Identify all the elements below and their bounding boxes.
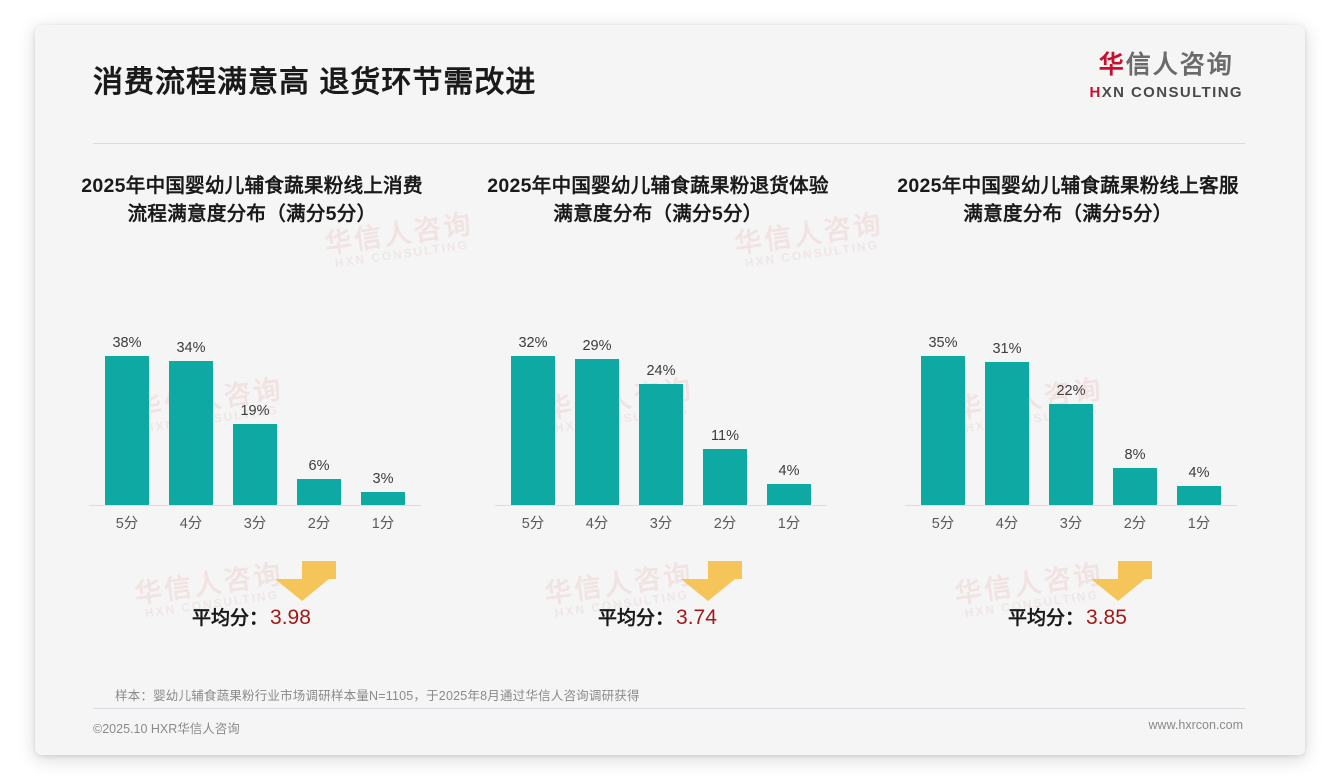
bar-value-label: 32%	[518, 335, 547, 351]
copyright-text: ©2025.10 HXR华信人咨询	[93, 718, 240, 737]
chart-plot-area: 38% 34% 19% 6%	[95, 307, 415, 535]
brand-logo-en: HXN CONSULTING	[1090, 85, 1244, 100]
bar-value-label: 11%	[711, 428, 739, 444]
bar-value-label: 3%	[373, 471, 394, 487]
chart-panel-consumption-flow: 2025年中国婴幼儿辅食蔬果粉线上消费流程满意度分布（满分5分） 38% 34%…	[57, 155, 447, 655]
bar-rect[interactable]	[361, 492, 405, 505]
average-score-value: 3.98	[270, 606, 311, 629]
average-score-value: 3.74	[676, 606, 717, 629]
chart-axis-line	[905, 505, 1237, 506]
x-tick-label: 3分	[1039, 512, 1103, 533]
chart-panel-customer-service: 2025年中国婴幼儿辅食蔬果粉线上客服满意度分布（满分5分） 35% 31% 2…	[873, 155, 1263, 655]
brand-logo: 华信人咨询 HXN CONSULTING	[1090, 53, 1244, 100]
header-divider	[93, 143, 1245, 144]
chart-panel-return-experience: 2025年中国婴幼儿辅食蔬果粉退货体验满意度分布（满分5分） 32% 29% 2…	[463, 155, 853, 655]
bar-value-label: 6%	[309, 458, 330, 474]
chart-title: 2025年中国婴幼儿辅食蔬果粉线上消费流程满意度分布（满分5分）	[80, 155, 425, 228]
bar-group: 32% 29% 24% 11%	[501, 335, 821, 505]
x-axis-tick-labels: 5分 4分 3分 2分 1分	[911, 509, 1231, 535]
bar-rect[interactable]	[703, 449, 747, 505]
bar-rect[interactable]	[1113, 468, 1157, 505]
bar-item[interactable]: 34%	[159, 335, 223, 505]
average-annotation: 平均分：3.74	[463, 555, 853, 650]
x-tick-label: 4分	[975, 512, 1039, 533]
chart-plot-area: 32% 29% 24% 11%	[501, 307, 821, 535]
average-score-label: 平均分：	[598, 608, 674, 629]
bar-rect[interactable]	[921, 356, 965, 505]
bar-item[interactable]: 4%	[1167, 335, 1231, 505]
slide-card: 消费流程满意高 退货环节需改进 华信人咨询 HXN CONSULTING 华信人…	[35, 25, 1305, 755]
x-axis-tick-labels: 5分 4分 3分 2分 1分	[95, 509, 415, 535]
bar-value-label: 35%	[928, 335, 957, 351]
bar-value-label: 22%	[1056, 383, 1085, 399]
average-score-label: 平均分：	[1008, 608, 1084, 629]
bar-value-label: 4%	[1189, 465, 1210, 481]
bar-item[interactable]: 35%	[911, 335, 975, 505]
x-tick-label: 3分	[629, 512, 693, 533]
x-tick-label: 4分	[565, 512, 629, 533]
x-tick-label: 2分	[1103, 512, 1167, 533]
footer-divider	[93, 708, 1245, 709]
x-axis-tick-labels: 5分 4分 3分 2分 1分	[501, 509, 821, 535]
bar-item[interactable]: 6%	[287, 335, 351, 505]
x-tick-label: 4分	[159, 512, 223, 533]
average-annotation: 平均分：3.85	[873, 555, 1263, 650]
chart-title: 2025年中国婴幼儿辅食蔬果粉线上客服满意度分布（满分5分）	[896, 155, 1241, 228]
slide-header: 消费流程满意高 退货环节需改进 华信人咨询 HXN CONSULTING	[35, 25, 1305, 117]
average-score-value: 3.85	[1086, 606, 1127, 629]
bar-value-label: 34%	[176, 340, 205, 356]
average-score-text: 平均分：3.85	[1008, 603, 1127, 630]
bar-rect[interactable]	[985, 362, 1029, 505]
brand-logo-en-rest: XN CONSULTING	[1102, 84, 1243, 101]
brand-logo-en-highlight: H	[1090, 84, 1102, 101]
average-score-text: 平均分：3.98	[192, 603, 311, 630]
brand-logo-cn-rest: 信人咨询	[1126, 51, 1234, 79]
bar-item[interactable]: 31%	[975, 335, 1039, 505]
bar-item[interactable]: 8%	[1103, 335, 1167, 505]
bar-item[interactable]: 4%	[757, 335, 821, 505]
bar-item[interactable]: 3%	[351, 335, 415, 505]
sample-footnote: 样本：婴幼儿辅食蔬果粉行业市场调研样本量N=1105，于2025年8月通过华信人…	[115, 685, 640, 704]
page-title: 消费流程满意高 退货环节需改进	[93, 57, 536, 101]
bar-rect[interactable]	[233, 424, 277, 505]
bar-item[interactable]: 29%	[565, 335, 629, 505]
bar-item[interactable]: 24%	[629, 335, 693, 505]
bar-rect[interactable]	[767, 484, 811, 505]
bar-item[interactable]: 19%	[223, 335, 287, 505]
bar-item[interactable]: 32%	[501, 335, 565, 505]
bar-value-label: 29%	[582, 338, 611, 354]
average-annotation: 平均分：3.98	[57, 555, 447, 650]
charts-container: 2025年中国婴幼儿辅食蔬果粉线上消费流程满意度分布（满分5分） 38% 34%…	[35, 155, 1305, 655]
bar-item[interactable]: 22%	[1039, 335, 1103, 505]
bar-value-label: 31%	[992, 341, 1021, 357]
bar-value-label: 24%	[646, 363, 675, 379]
website-url[interactable]: www.hxrcon.com	[1149, 718, 1243, 732]
bar-rect[interactable]	[575, 359, 619, 505]
brand-logo-cn: 华信人咨询	[1090, 53, 1244, 78]
bar-rect[interactable]	[1049, 404, 1093, 505]
bar-value-label: 38%	[112, 335, 141, 351]
x-tick-label: 1分	[1167, 512, 1231, 533]
bar-item[interactable]: 11%	[693, 335, 757, 505]
x-tick-label: 2分	[693, 512, 757, 533]
bar-group: 35% 31% 22% 8%	[911, 335, 1231, 505]
average-score-text: 平均分：3.74	[598, 603, 717, 630]
bar-value-label: 8%	[1125, 447, 1146, 463]
bar-rect[interactable]	[639, 384, 683, 505]
x-tick-label: 1分	[757, 512, 821, 533]
bar-rect[interactable]	[169, 361, 213, 505]
bar-value-label: 19%	[240, 403, 269, 419]
chart-axis-line	[89, 505, 421, 506]
bar-rect[interactable]	[297, 479, 341, 505]
chart-title: 2025年中国婴幼儿辅食蔬果粉退货体验满意度分布（满分5分）	[486, 155, 831, 228]
bar-value-label: 4%	[779, 463, 800, 479]
x-tick-label: 5分	[95, 512, 159, 533]
bar-rect[interactable]	[1177, 486, 1221, 505]
brand-logo-cn-highlight: 华	[1099, 51, 1126, 79]
x-tick-label: 2分	[287, 512, 351, 533]
bar-item[interactable]: 38%	[95, 335, 159, 505]
x-tick-label: 5分	[911, 512, 975, 533]
chart-plot-area: 35% 31% 22% 8%	[911, 307, 1231, 535]
chart-axis-line	[495, 505, 827, 506]
bar-rect[interactable]	[105, 356, 149, 505]
bar-rect[interactable]	[511, 356, 555, 505]
average-score-label: 平均分：	[192, 608, 268, 629]
x-tick-label: 5分	[501, 512, 565, 533]
x-tick-label: 1分	[351, 512, 415, 533]
bar-group: 38% 34% 19% 6%	[95, 335, 415, 505]
x-tick-label: 3分	[223, 512, 287, 533]
